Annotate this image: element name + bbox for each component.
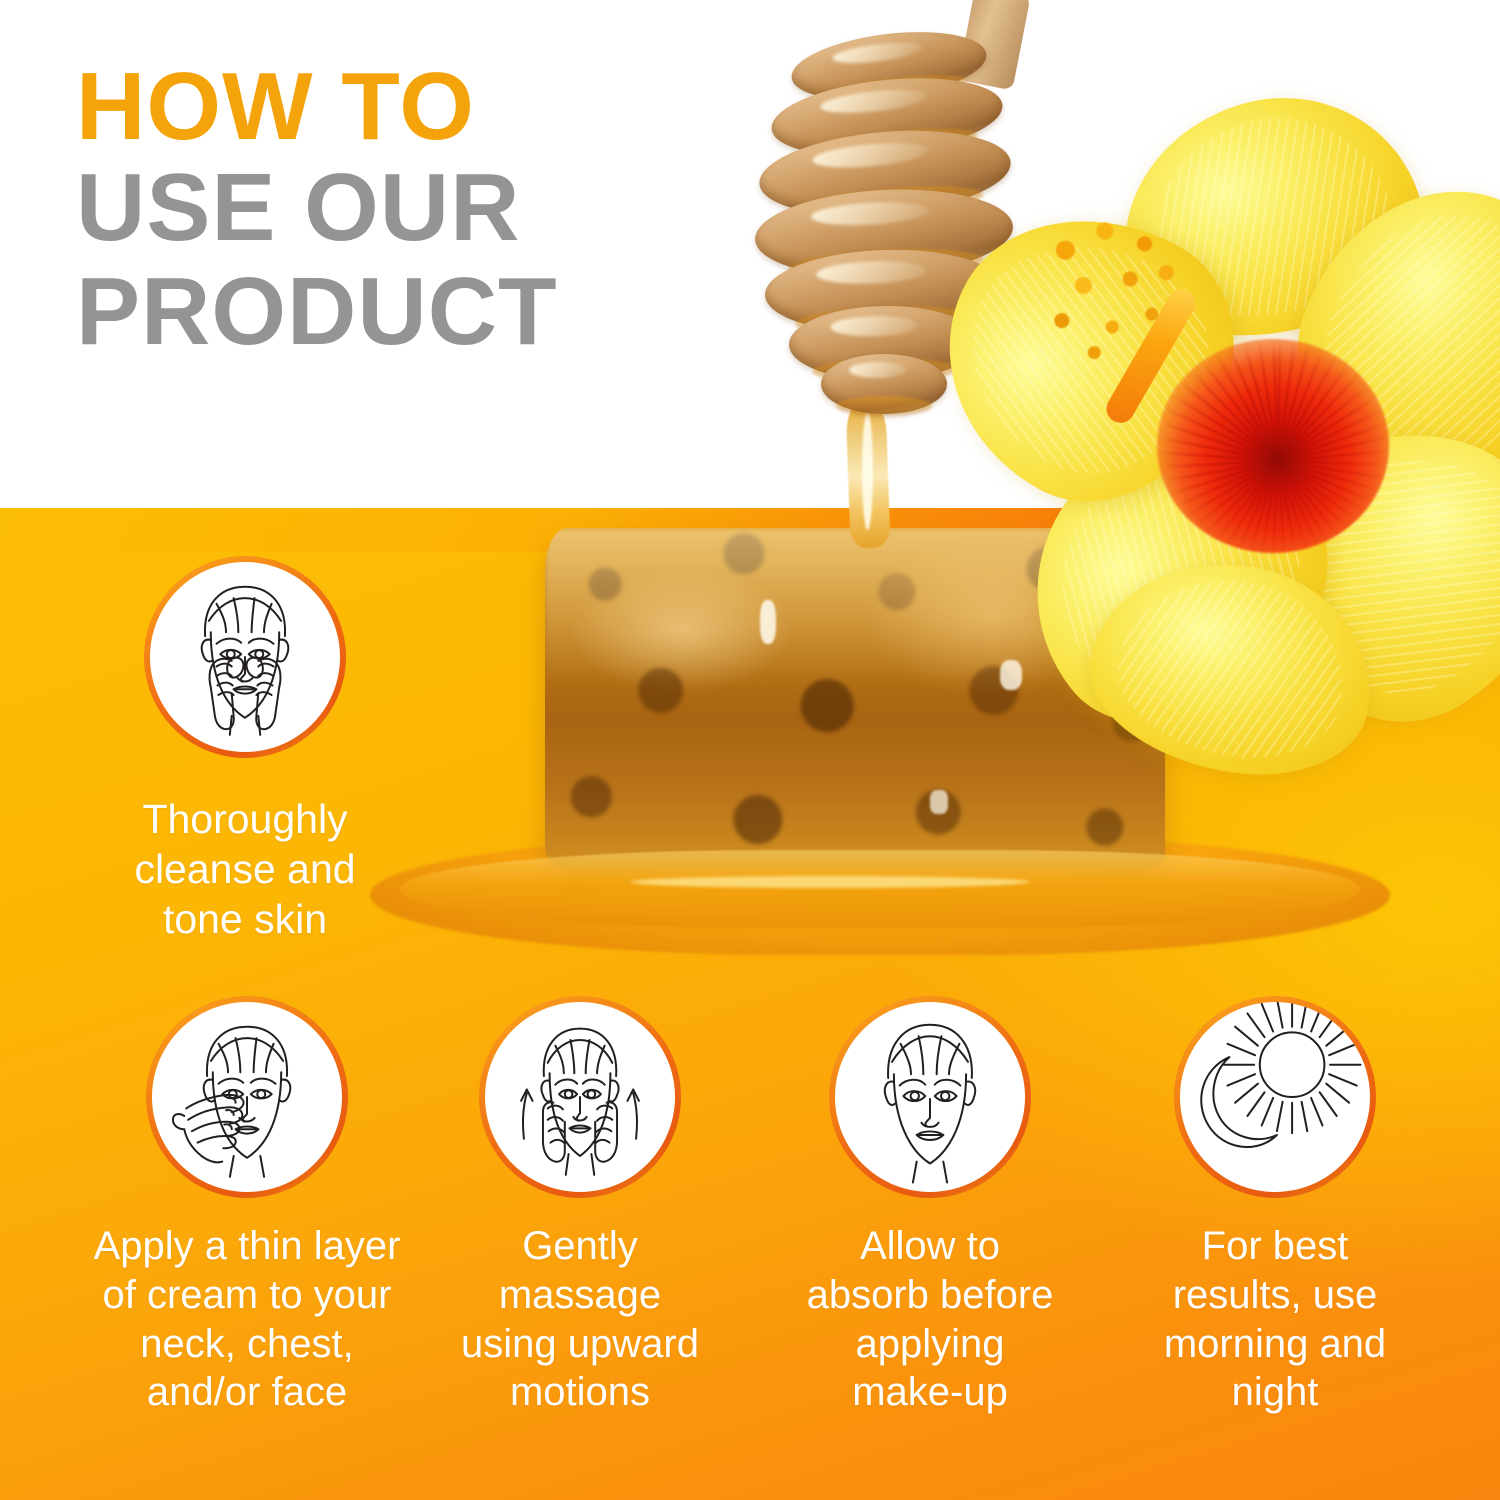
title-line-how-to: HOW TO [76,58,558,156]
flower-anthers [1033,215,1213,375]
step-5-icon-ring [1174,996,1376,1198]
honey-pool-shine [630,876,1030,888]
honeycomb-glint [930,790,948,814]
step-5: For best results, use morning and night [1110,996,1440,1417]
step-1-icon-ring [144,556,346,758]
face-cleanse-two-hands-icon [150,562,340,752]
step-3: Gently massage using upward motions [420,996,740,1417]
step-4-caption: Allow to absorb before applying make-up [760,1222,1100,1417]
step-2: Apply a thin layer of cream to your neck… [62,996,432,1417]
sun-and-moon-icon [1180,1002,1370,1192]
step-2-icon-ring [146,996,348,1198]
face-plain-icon [835,1002,1025,1192]
hibiscus-flower [905,95,1500,785]
step-4: Allow to absorb before applying make-up [760,996,1100,1417]
step-5-caption: For best results, use morning and night [1110,1222,1440,1417]
step-3-caption: Gently massage using upward motions [420,1222,740,1417]
title-line-product: PRODUCT [76,260,558,364]
step-1: Thoroughly cleanse and tone skin [60,556,430,944]
step-4-icon-ring [829,996,1031,1198]
page-title: HOW TO USE OUR PRODUCT [76,58,558,363]
honey-pool-rim [400,850,1360,928]
step-1-caption: Thoroughly cleanse and tone skin [60,794,430,944]
honeycomb-glint [760,600,776,644]
honey-drip-highlight [862,412,873,530]
title-line-use-our: USE OUR [76,156,558,260]
face-apply-cream-one-hand-icon [152,1002,342,1192]
steps-row-2: Apply a thin layer of cream to your neck… [0,996,1500,1466]
step-2-caption: Apply a thin layer of cream to your neck… [62,1222,432,1417]
face-massage-upward-arrows-icon [485,1002,675,1192]
how-to-use-infographic: HOW TO USE OUR PRODUCT [0,0,1500,1500]
step-3-icon-ring [479,996,681,1198]
